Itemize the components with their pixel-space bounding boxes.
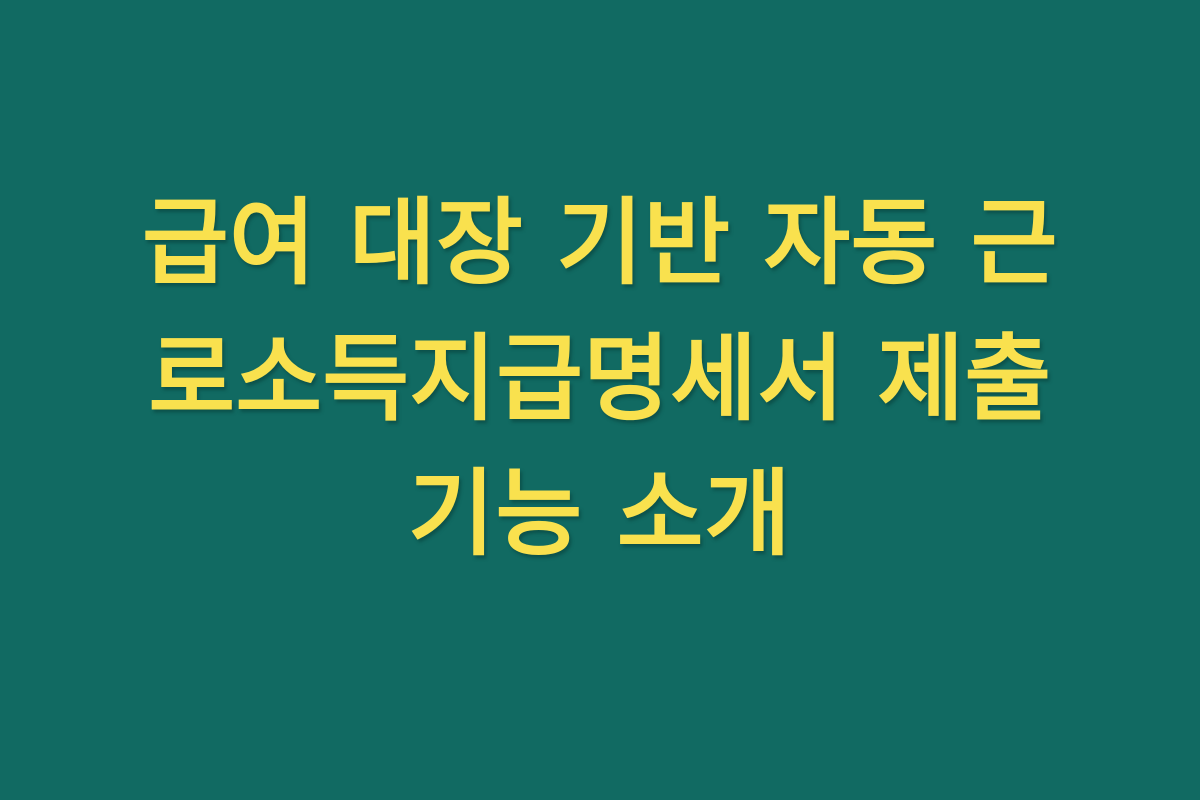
page-title-line-1: 급여 대장 기반 자동 근 [95,176,1105,311]
page-title: 급여 대장 기반 자동 근 로소득지급명세서 제출 기능 소개 [95,176,1105,582]
page-title-line-3: 기능 소개 [95,447,1105,582]
title-banner: 급여 대장 기반 자동 근 로소득지급명세서 제출 기능 소개 [0,0,1200,800]
page-title-line-2: 로소득지급명세서 제출 [95,312,1105,447]
